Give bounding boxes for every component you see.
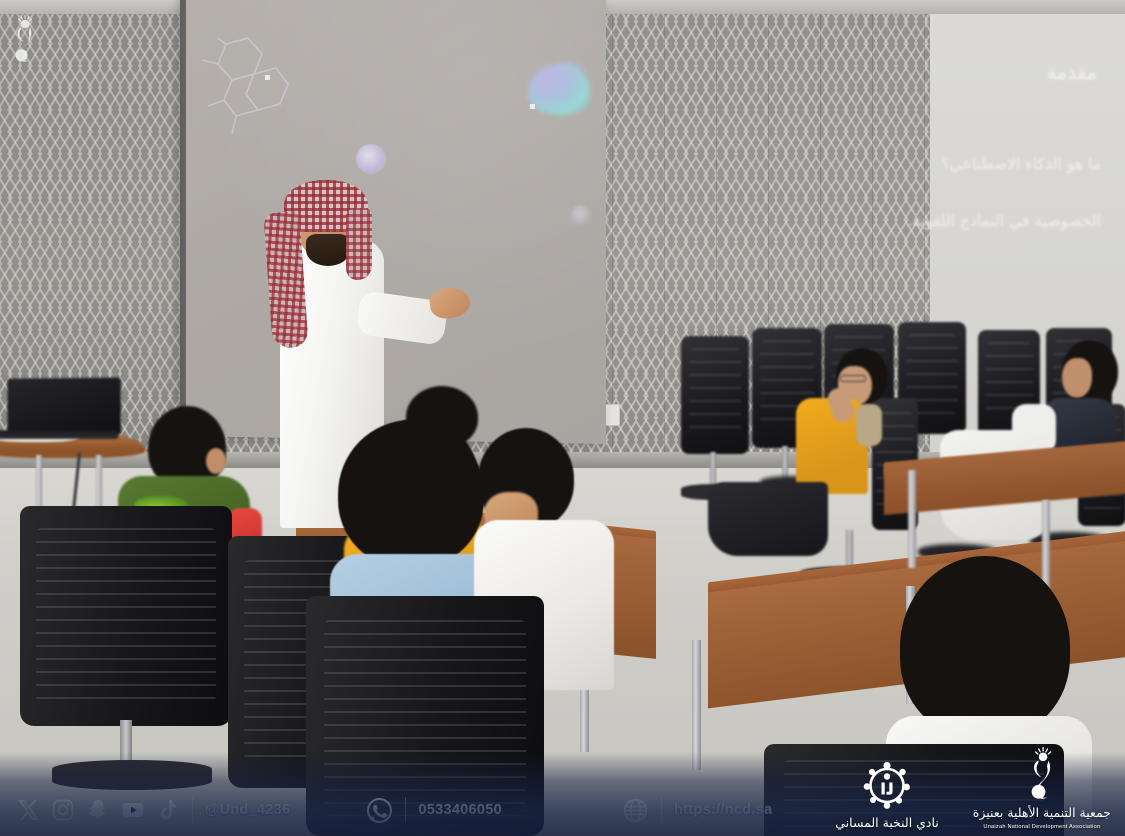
brain-icon (356, 144, 386, 174)
desk-leg (692, 640, 701, 770)
laptop-screen (7, 377, 120, 434)
brain-icon-secondary (570, 205, 592, 227)
student-head-foreground (900, 556, 1070, 738)
presenter-shemagh-drape (346, 208, 372, 280)
elite-club-logo-icon (861, 759, 913, 811)
presenter-hand (428, 285, 472, 320)
student-undershirt-sleeve (856, 404, 882, 446)
unaizah-association-logo-icon (1021, 745, 1063, 801)
nadi-alnokhba-almasani-logo: نادي النخبة المساني (835, 759, 939, 830)
slide-title: مقدمة (1047, 62, 1097, 84)
laptop-base (0, 430, 118, 439)
slide-bullet-1: ما هو الذكاء الاصطناعي؟ (942, 155, 1101, 173)
slide-dot (265, 75, 270, 80)
logo-arabic-label: جمعية التنمية الأهلية بعنيزة (973, 805, 1111, 820)
presenter-beard (306, 234, 350, 266)
photo-scene: مقدمة ما هو الذكاء الاصطناعي؟ الخصوصية ف… (0, 0, 1125, 836)
student-face (1062, 358, 1092, 398)
slide-bullet-2: الخصوصية في النماذج اللغوية. (908, 212, 1101, 230)
student-head (338, 420, 484, 568)
unaizah-association-logo-watermark (8, 12, 42, 64)
logo-english-label: Unaizah National Development Association (983, 824, 1100, 830)
slide-dot (530, 104, 535, 109)
desk-leg (908, 470, 916, 568)
logo-arabic-label: نادي النخبة المساني (835, 815, 939, 830)
chair-slats (689, 348, 741, 432)
student-trousers (708, 482, 828, 556)
wall-power-outlet (604, 404, 620, 426)
unaizah-national-development-association-logo: جمعية التنمية الأهلية بعنيزة Unaizah Nat… (973, 745, 1111, 830)
footer-logos-group: نادي النخبة المساني جمعية التنمية الأهلي… (835, 745, 1111, 830)
eyeglasses (840, 375, 866, 382)
student-ear (206, 448, 226, 474)
chair-slats (36, 528, 216, 702)
hexagon-molecule-icon (196, 36, 291, 146)
